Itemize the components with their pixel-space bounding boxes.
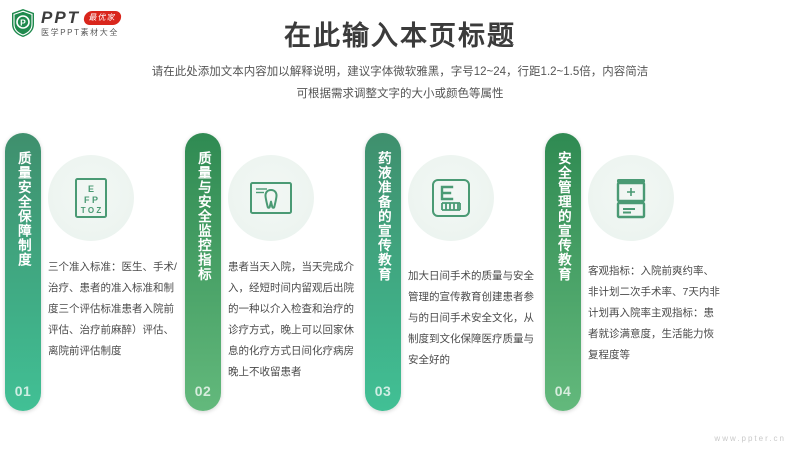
column-number-2: 02	[185, 383, 221, 399]
column-bar-2[interactable]: 质量与安全监控指标 02	[185, 133, 221, 411]
column-bar-3[interactable]: 药液准备的宣传教育 03	[365, 133, 401, 411]
column-text-1: 三个准入标准：医生、手术/治疗、患者的准入标准和制度三个评估标准患者入院前评估、…	[48, 257, 180, 362]
vision-test-icon	[408, 155, 494, 241]
content-column-3: 药液准备的宣传教育 03 加大日间手术的质量与安全管理的宣传教育创建患者参与的日…	[360, 133, 540, 418]
column-text-4: 客观指标：入院前爽约率、非计划二次手术率、7天内非计划再入院率主观指标：患者就诊…	[588, 261, 720, 366]
column-bar-1[interactable]: 质量安全保障制度 01	[5, 133, 41, 411]
content-column-2: 质量与安全监控指标 02 患者当天入院，当天完成介入，经短时间内留观后出院的一种…	[180, 133, 360, 418]
eye-chart-icon: E F P T O Z	[48, 155, 134, 241]
column-number-4: 04	[545, 383, 581, 399]
column-text-2: 患者当天入院，当天完成介入，经短时间内留观后出院的一种以介入检查和治疗的诊疗方式…	[228, 257, 360, 383]
column-label-4: 安全管理的宣传教育	[545, 151, 581, 366]
svg-text:E: E	[88, 184, 94, 194]
subtitle-line-2: 可根据需求调整文字的大小或颜色等属性	[0, 84, 800, 106]
svg-text:F P: F P	[84, 195, 98, 205]
column-bar-4[interactable]: 安全管理的宣传教育 04	[545, 133, 581, 411]
column-label-2: 质量与安全监控指标	[185, 151, 221, 366]
subtitle-line-1: 请在此处添加文本内容加以解释说明，建议字体微软雅黑，字号12~24，行距1.2~…	[0, 62, 800, 84]
content-column-4: 安全管理的宣传教育 04 客观指标：入院前爽约率、非计划二次手术率、7天内非计划…	[540, 133, 720, 418]
page-subtitle: 请在此处添加文本内容加以解释说明，建议字体微软雅黑，字号12~24，行距1.2~…	[0, 62, 800, 106]
column-number-1: 01	[5, 383, 41, 399]
dental-xray-icon	[228, 155, 314, 241]
column-label-3: 药液准备的宣传教育	[365, 151, 401, 366]
content-column-1: 质量安全保障制度 01 E F P T O Z 三个准入标准：医生、手术/治疗、…	[0, 133, 180, 418]
watermark: www.ppter.cn	[714, 434, 786, 443]
column-text-3: 加大日间手术的质量与安全管理的宣传教育创建患者参与的日间手术安全文化，从制度到文…	[408, 266, 540, 371]
svg-text:T O Z: T O Z	[81, 206, 102, 215]
content-columns: 质量安全保障制度 01 E F P T O Z 三个准入标准：医生、手术/治疗、…	[0, 133, 800, 418]
page-title: 在此输入本页标题	[0, 14, 800, 53]
column-number-3: 03	[365, 383, 401, 399]
medical-cabinet-icon	[588, 155, 674, 241]
column-label-1: 质量安全保障制度	[5, 151, 41, 366]
